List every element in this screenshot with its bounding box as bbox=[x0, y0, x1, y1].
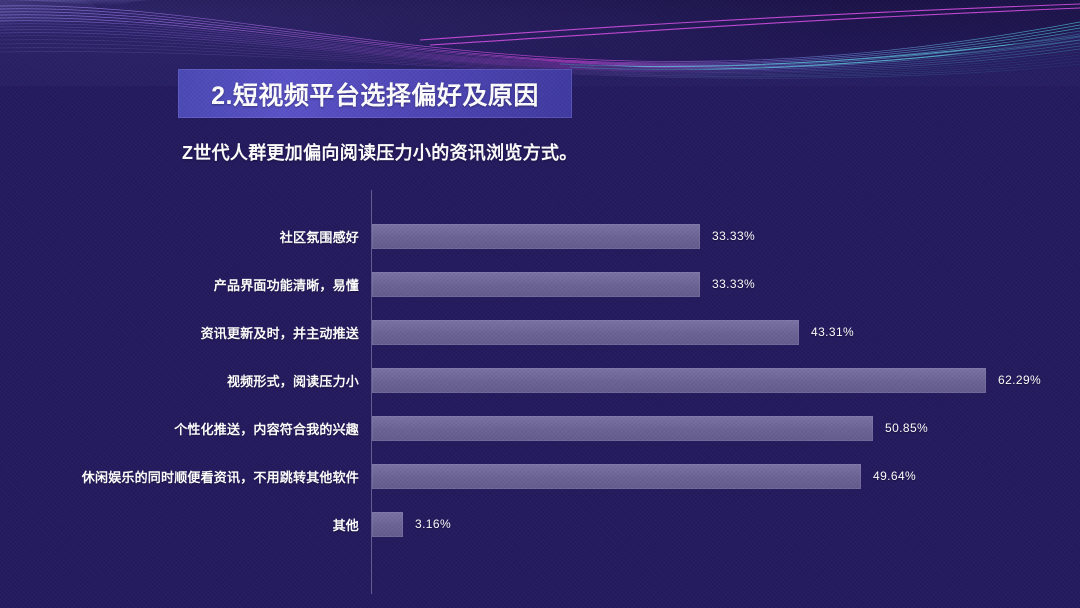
chart-row: 个性化推送，内容符合我的兴趣50.85% bbox=[0, 404, 1080, 452]
chart-bar-group: 43.31% bbox=[372, 308, 854, 356]
chart-bar-value: 43.31% bbox=[811, 325, 854, 339]
chart-row: 视频形式，阅读压力小62.29% bbox=[0, 356, 1080, 404]
chart-bar[interactable] bbox=[372, 368, 986, 393]
chart-row: 社区氛围感好33.33% bbox=[0, 212, 1080, 260]
chart-bar[interactable] bbox=[372, 320, 799, 345]
chart-bar-group: 62.29% bbox=[372, 356, 1041, 404]
section-title-box: 2.短视频平台选择偏好及原因 bbox=[178, 69, 572, 118]
chart-category-label: 视频形式，阅读压力小 bbox=[29, 371, 359, 390]
bar-chart: 社区氛围感好33.33%产品界面功能清晰，易懂33.33%资讯更新及时，并主动推… bbox=[0, 190, 1080, 594]
chart-category-label: 其他 bbox=[29, 515, 359, 534]
chart-row: 休闲娱乐的同时顺便看资讯，不用跳转其他软件49.64% bbox=[0, 452, 1080, 500]
chart-bar[interactable] bbox=[372, 224, 700, 249]
chart-rows: 社区氛围感好33.33%产品界面功能清晰，易懂33.33%资讯更新及时，并主动推… bbox=[0, 190, 1080, 594]
chart-bar-value: 49.64% bbox=[873, 469, 916, 483]
chart-bar-group: 3.16% bbox=[372, 500, 451, 548]
chart-bar-value: 50.85% bbox=[885, 421, 928, 435]
chart-bar-value: 3.16% bbox=[415, 517, 451, 531]
chart-bar-group: 33.33% bbox=[372, 260, 755, 308]
chart-bar[interactable] bbox=[372, 416, 873, 441]
chart-bar[interactable] bbox=[372, 512, 403, 537]
chart-category-label: 个性化推送，内容符合我的兴趣 bbox=[29, 419, 359, 438]
chart-bar[interactable] bbox=[372, 464, 861, 489]
chart-bar-value: 33.33% bbox=[712, 277, 755, 291]
chart-category-label: 资讯更新及时，并主动推送 bbox=[29, 323, 359, 342]
chart-category-label: 产品界面功能清晰，易懂 bbox=[29, 275, 359, 294]
chart-bar-value: 33.33% bbox=[712, 229, 755, 243]
slide-root: 2.短视频平台选择偏好及原因 Z世代人群更加偏向阅读压力小的资讯浏览方式。 社区… bbox=[0, 0, 1080, 608]
chart-bar-value: 62.29% bbox=[998, 373, 1041, 387]
chart-bar-group: 33.33% bbox=[372, 212, 755, 260]
chart-row: 资讯更新及时，并主动推送43.31% bbox=[0, 308, 1080, 356]
chart-bar[interactable] bbox=[372, 272, 700, 297]
chart-bar-group: 49.64% bbox=[372, 452, 916, 500]
chart-bar-group: 50.85% bbox=[372, 404, 928, 452]
chart-row: 其他3.16% bbox=[0, 500, 1080, 548]
chart-category-label: 社区氛围感好 bbox=[29, 227, 359, 246]
chart-row: 产品界面功能清晰，易懂33.33% bbox=[0, 260, 1080, 308]
page-subtitle: Z世代人群更加偏向阅读压力小的资讯浏览方式。 bbox=[182, 139, 578, 165]
page-title: 2.短视频平台选择偏好及原因 bbox=[211, 76, 539, 112]
chart-category-label: 休闲娱乐的同时顺便看资讯，不用跳转其他软件 bbox=[29, 467, 359, 486]
